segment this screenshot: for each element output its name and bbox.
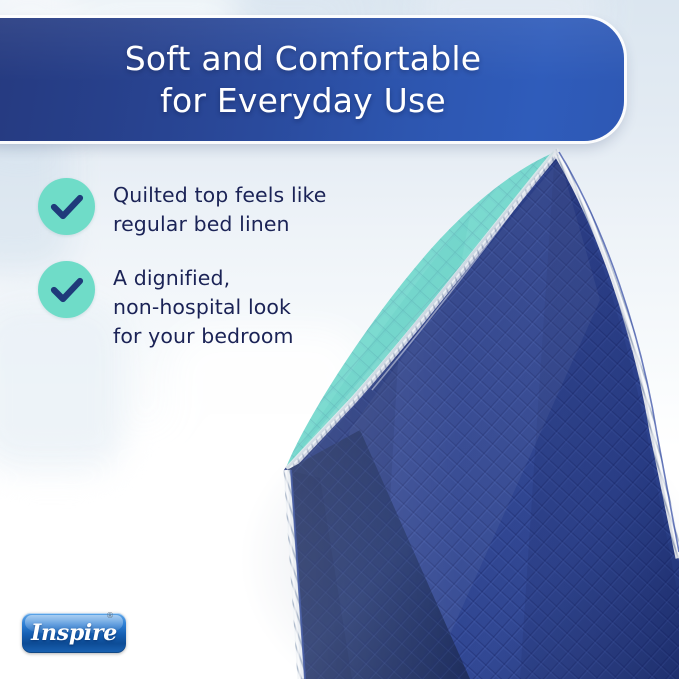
check-icon: [38, 178, 95, 235]
headline-banner: Soft and Comfortable for Everyday Use: [0, 18, 624, 141]
headline-text: Soft and Comfortable for Everyday Use: [0, 37, 606, 121]
check-icon: [38, 261, 95, 318]
feature-bullet: Quilted top feels like regular bed linen: [38, 178, 368, 239]
feature-bullet-list: Quilted top feels like regular bed linen…: [38, 178, 368, 374]
product-marketing-image: Soft and Comfortable for Everyday Use Qu…: [0, 0, 679, 679]
feature-bullet: A dignified, non-hospital look for your …: [38, 261, 368, 351]
feature-bullet-label: A dignified, non-hospital look for your …: [113, 261, 294, 351]
feature-bullet-label: Quilted top feels like regular bed linen: [113, 178, 327, 239]
registered-trademark-symbol: ®: [106, 611, 114, 620]
